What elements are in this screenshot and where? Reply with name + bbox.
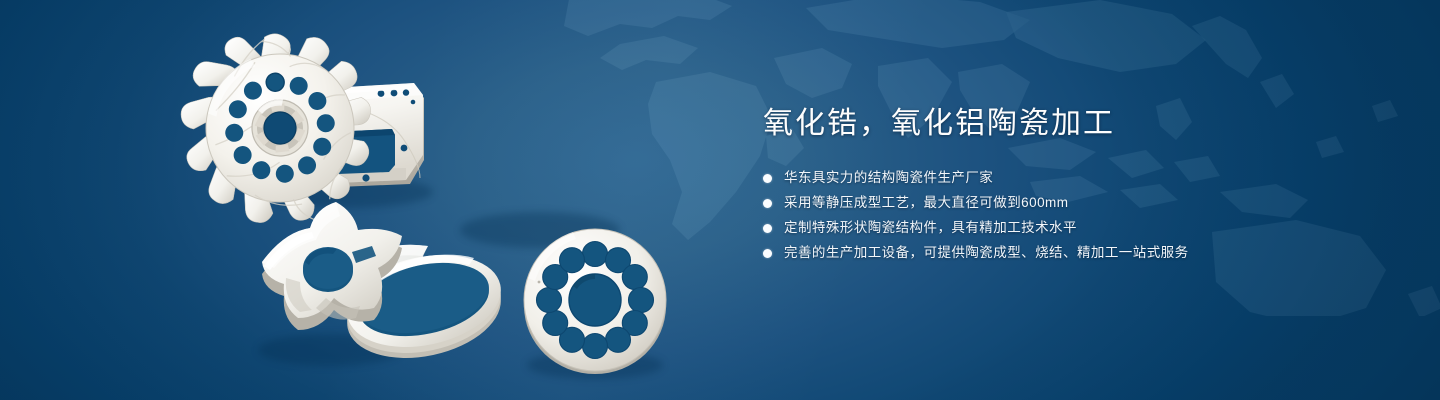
banner-headline: 氧化锆，氧化铝陶瓷加工 [763,106,1363,143]
bullet-dot-icon [763,224,772,233]
feature-list: 华东具实力的结构陶瓷件生产厂家 采用等静压成型工艺，最大直径可做到600mm 定… [763,166,1363,266]
feature-text: 完善的生产加工设备，可提供陶瓷成型、烧结、精加工一站式服务 [784,244,1189,262]
banner-copy: 氧化锆，氧化铝陶瓷加工 华东具实力的结构陶瓷件生产厂家 采用等静压成型工艺，最大… [763,106,1363,266]
list-item: 定制特殊形状陶瓷结构件，具有精加工技术水平 [763,216,1363,241]
promo-banner: 氧化锆，氧化铝陶瓷加工 华东具实力的结构陶瓷件生产厂家 采用等静压成型工艺，最大… [0,0,1440,400]
feature-text: 定制特殊形状陶瓷结构件，具有精加工技术水平 [784,219,1077,237]
feature-text: 采用等静压成型工艺，最大直径可做到600mm [784,194,1068,212]
bullet-dot-icon [763,199,772,208]
feature-text: 华东具实力的结构陶瓷件生产厂家 [784,169,993,187]
product-photo-group [0,0,720,400]
bullet-dot-icon [763,174,772,183]
list-item: 采用等静压成型工艺，最大直径可做到600mm [763,191,1363,216]
list-item: 完善的生产加工设备，可提供陶瓷成型、烧结、精加工一站式服务 [763,241,1363,266]
list-item: 华东具实力的结构陶瓷件生产厂家 [763,166,1363,191]
bullet-dot-icon [763,249,772,258]
